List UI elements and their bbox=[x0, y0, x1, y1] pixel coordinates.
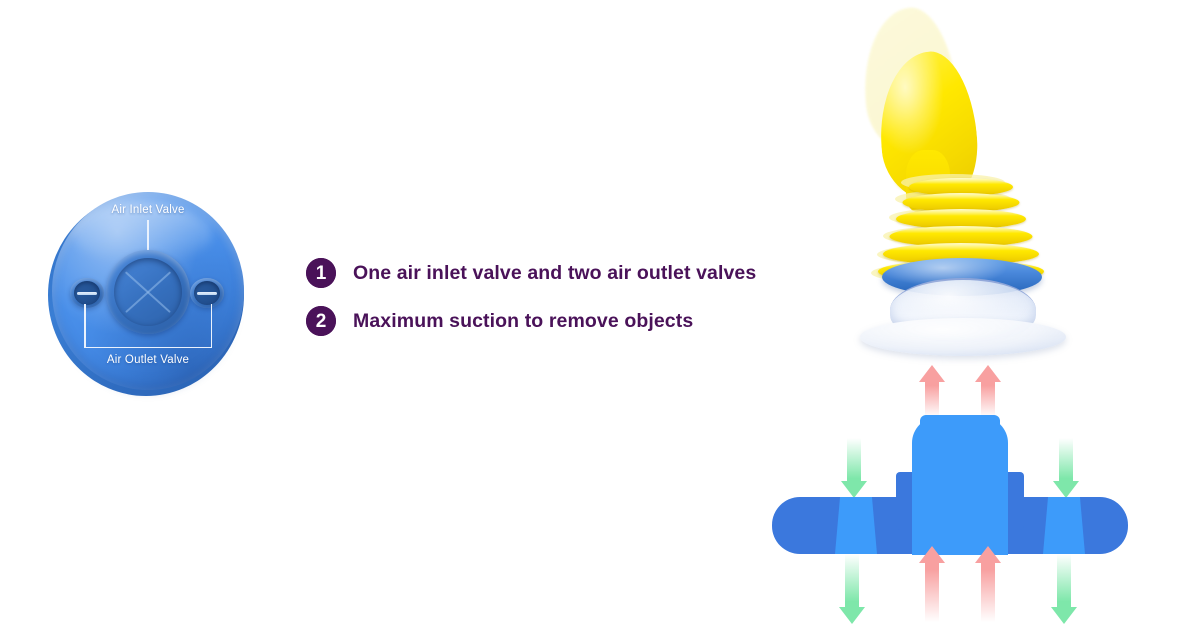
feature-item: 2 Maximum suction to remove objects bbox=[306, 306, 806, 336]
outlet-arrow-down-icon bbox=[830, 554, 874, 624]
feature-label: One air inlet valve and two air outlet v… bbox=[353, 262, 756, 285]
bellows-plunger-product bbox=[836, 0, 1086, 372]
infographic-canvas: Air Inlet Valve Air Outlet Valve 1 One a… bbox=[0, 0, 1200, 628]
air-inlet-valve-label: Air Inlet Valve bbox=[111, 204, 184, 216]
outlet-arrow-down-icon bbox=[1042, 554, 1086, 624]
drain-tower-cap bbox=[920, 415, 1000, 425]
drain-airflow-schematic bbox=[760, 360, 1160, 628]
drain-center-tower bbox=[912, 417, 1008, 555]
feature-number-badge: 1 bbox=[306, 258, 336, 288]
airflow-band-left bbox=[835, 497, 877, 554]
air-outlet-valve-recess bbox=[74, 281, 100, 305]
outlet-arrow-down-icon bbox=[834, 438, 874, 498]
outlet-leader-bracket bbox=[84, 304, 212, 348]
feature-list: 1 One air inlet valve and two air outlet… bbox=[306, 258, 806, 354]
suction-arrow-up-icon bbox=[968, 546, 1008, 622]
airflow-band-right bbox=[1043, 497, 1085, 554]
outlet-slit-icon bbox=[77, 292, 97, 295]
feature-label: Maximum suction to remove objects bbox=[353, 310, 693, 333]
suction-cup-flange bbox=[860, 318, 1066, 356]
suction-arrow-up-icon bbox=[912, 546, 952, 622]
outlet-arrow-down-icon bbox=[1046, 438, 1086, 498]
suction-arrow-up-icon bbox=[912, 365, 952, 413]
suction-arrow-up-icon bbox=[968, 365, 1008, 413]
feature-number-badge: 2 bbox=[306, 306, 336, 336]
feature-item: 1 One air inlet valve and two air outlet… bbox=[306, 258, 806, 288]
outlet-slit-icon bbox=[197, 292, 217, 295]
valve-face-diagram: Air Inlet Valve Air Outlet Valve bbox=[48, 192, 248, 404]
air-outlet-valve-label: Air Outlet Valve bbox=[107, 354, 189, 366]
air-outlet-valve-recess bbox=[194, 281, 220, 305]
